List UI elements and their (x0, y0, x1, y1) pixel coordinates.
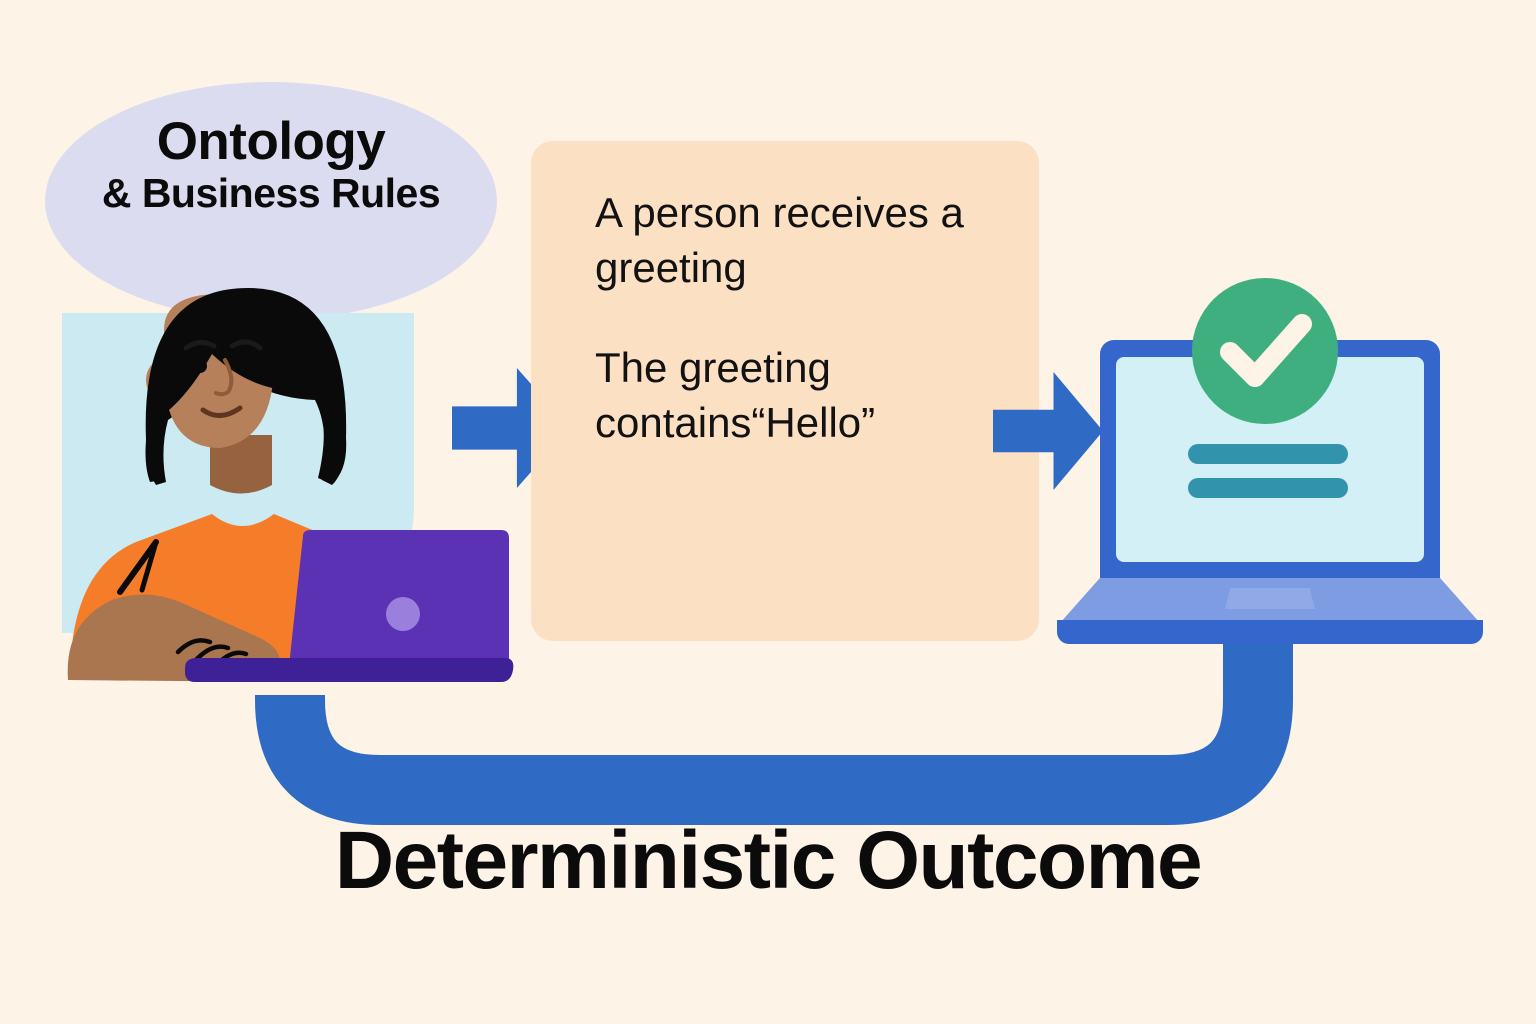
ontology-bubble-line1: Ontology (45, 112, 497, 171)
result-laptop-touchpad (1225, 588, 1315, 609)
ontology-bubble-line2: & Business Rules (45, 171, 497, 217)
rule-statement-1: A person receives a greeting (595, 185, 1025, 296)
person-laptop-logo (386, 597, 420, 631)
eye-right (239, 359, 253, 373)
success-check-badge (1192, 278, 1338, 424)
eye-left (193, 359, 207, 373)
ontology-bubble-text: Ontology & Business Rules (45, 112, 497, 217)
check-icon (1192, 278, 1338, 424)
person-laptop (175, 528, 515, 690)
check-icon-path (1230, 324, 1302, 377)
result-laptop-base (1057, 620, 1483, 644)
rules-card-text: A person receives a greeting The greetin… (595, 185, 1025, 451)
person-laptop-base (185, 658, 513, 682)
rule-statement-2: The greeting contains“Hello” (595, 340, 1025, 451)
outcome-caption: Deterministic Outcome (0, 814, 1536, 908)
result-content-bar-2 (1188, 478, 1348, 498)
result-content-bar-1 (1188, 444, 1348, 464)
diagram-canvas: Ontology & Business Rules (0, 0, 1536, 1024)
